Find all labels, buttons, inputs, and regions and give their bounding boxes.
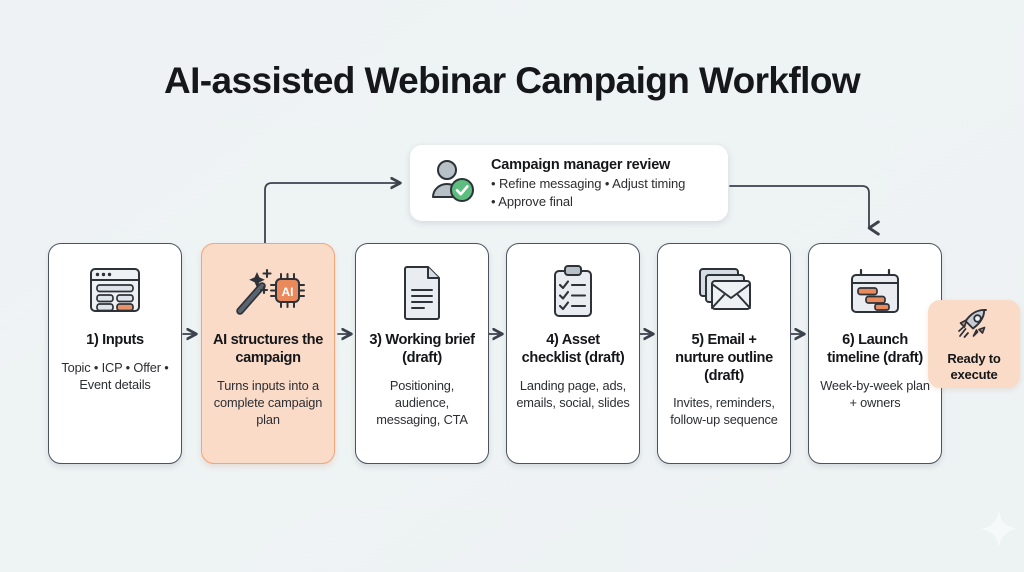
person-check-icon <box>426 155 478 212</box>
page-title: AI-assisted Webinar Campaign Workflow <box>0 60 1024 102</box>
step-body: Topic • ICP • Offer • Event details <box>58 359 172 393</box>
campaign-manager-review-box: Campaign manager review • Refine messagi… <box>410 145 728 221</box>
step-body: Week-by-week plan + owners <box>818 377 932 411</box>
step-card-email-nurture[interactable]: 5) Email + nurture outline (draft) Invit… <box>657 243 791 464</box>
step-title: 6) Launch timeline (draft) <box>818 332 932 368</box>
step-title: 3) Working brief (draft) <box>365 332 479 368</box>
step-title: AI structures the campaign <box>211 332 325 368</box>
stacked-envelopes-icon <box>693 261 755 323</box>
clipboard-checklist-icon <box>547 261 599 323</box>
workflow-diagram: AI-assisted Webinar Campaign Workflow <box>0 0 1024 572</box>
ai-magic-chip-icon: AI <box>231 261 305 323</box>
step-card-ai-structures[interactable]: AI AI structures the campaign Turns inpu… <box>201 243 335 464</box>
step-body: Landing page, ads, emails, social, slide… <box>516 377 630 411</box>
rocket-icon <box>956 307 992 346</box>
step-body: Invites, reminders, follow-up sequence <box>667 394 781 428</box>
step-title: 4) Asset checklist (draft) <box>516 332 630 368</box>
review-bullet-line-2: • Approve final <box>491 193 685 210</box>
review-title: Campaign manager review <box>491 157 685 173</box>
step-body: Turns inputs into a complete campaign pl… <box>211 377 325 428</box>
step-card-launch-timeline[interactable]: 6) Launch timeline (draft) Week-by-week … <box>808 243 942 464</box>
step-card-working-brief[interactable]: 3) Working brief (draft) Positioning, au… <box>355 243 489 464</box>
ready-to-execute-label: Ready to execute <box>928 351 1020 382</box>
step-body: Positioning, audience, messaging, CTA <box>365 377 479 428</box>
step-title: 5) Email + nurture outline (draft) <box>667 332 781 385</box>
step-card-asset-checklist[interactable]: 4) Asset checklist (draft) Landing page,… <box>506 243 640 464</box>
svg-text:AI: AI <box>282 285 294 299</box>
step-card-inputs[interactable]: 1) Inputs Topic • ICP • Offer • Event de… <box>48 243 182 464</box>
step-title: 1) Inputs <box>86 332 144 350</box>
document-icon <box>398 261 446 323</box>
gantt-calendar-icon <box>846 261 904 323</box>
ready-to-execute-badge: Ready to execute <box>928 300 1020 388</box>
form-window-icon <box>85 261 145 323</box>
sparkle-icon <box>978 508 1020 555</box>
review-bullet-line-1: • Refine messaging • Adjust timing <box>491 175 685 192</box>
